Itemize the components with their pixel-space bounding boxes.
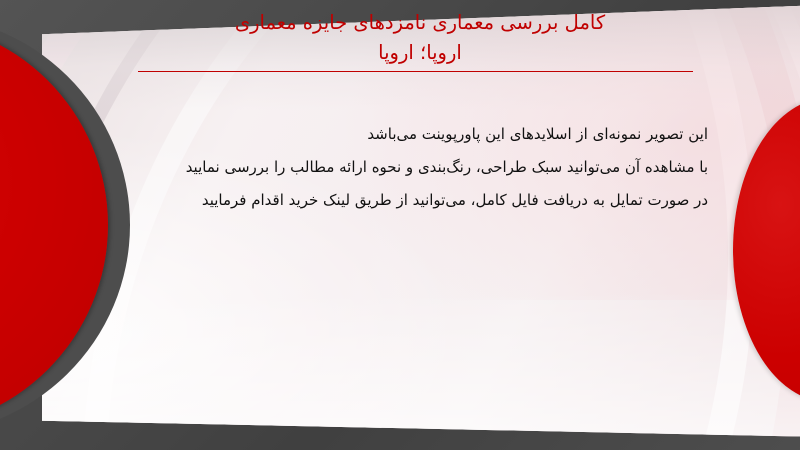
body-line-3: در صورت تمایل به دریافت فایل کامل، می‌تو… bbox=[108, 184, 708, 217]
slide-canvas: کامل بررسی معماری نامزدهای جایزه معماری … bbox=[0, 0, 800, 450]
red-ellipse-right bbox=[733, 98, 800, 402]
slide-body-text: این تصویر نمونه‌ای از اسلایدهای این پاور… bbox=[108, 118, 708, 217]
slide-title: کامل بررسی معماری نامزدهای جایزه معماری … bbox=[140, 8, 700, 68]
red-ellipse-right-clip bbox=[710, 0, 800, 450]
slide-title-line-1: کامل بررسی معماری نامزدهای جایزه معماری bbox=[140, 8, 700, 38]
title-underline-rule bbox=[138, 71, 693, 72]
slide-title-line-2: اروپا؛ اروپا bbox=[140, 38, 700, 68]
body-line-2: با مشاهده آن می‌توانید سبک طراحی، رنگ‌بن… bbox=[108, 151, 708, 184]
body-line-1: این تصویر نمونه‌ای از اسلایدهای این پاور… bbox=[108, 118, 708, 151]
